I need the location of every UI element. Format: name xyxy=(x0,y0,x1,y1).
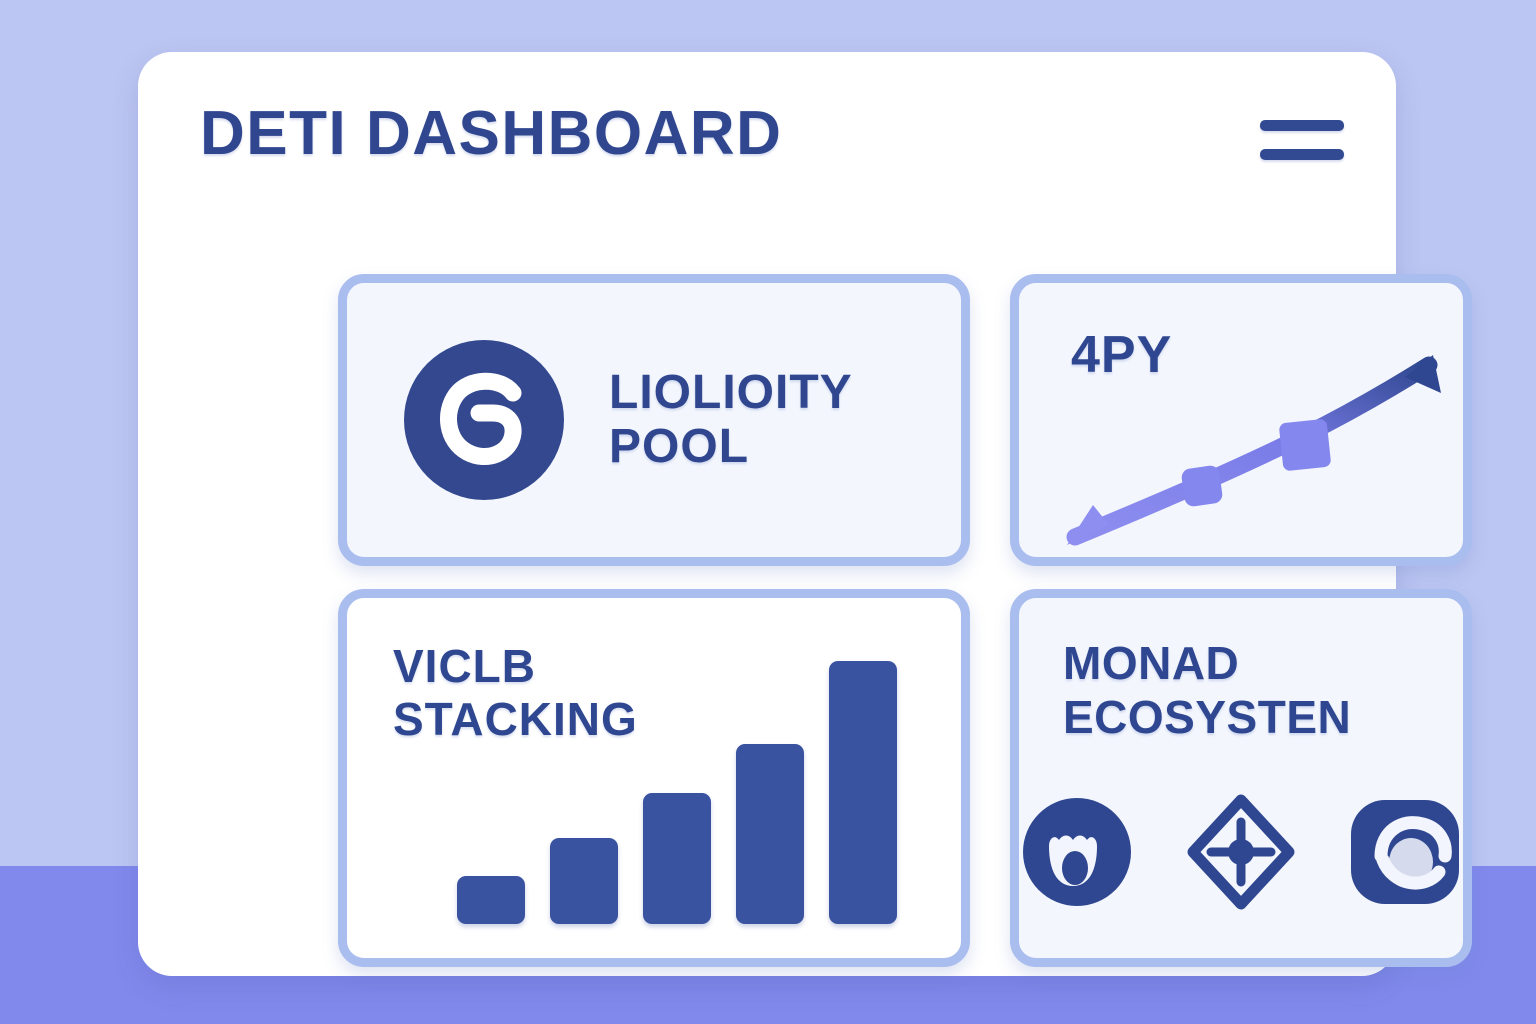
ecosystem-title: MONAD ECOSYSTEN xyxy=(1063,636,1351,745)
bar-chart-icon xyxy=(457,656,927,924)
ecosystem-icon-row xyxy=(1019,794,1463,910)
apy-title: 4PY xyxy=(1071,325,1172,385)
ecosystem-title-line1: MONAD xyxy=(1063,637,1239,689)
dashboard-header: DETI DASHBOARD xyxy=(138,52,1396,212)
hamburger-menu-icon[interactable] xyxy=(1260,114,1346,166)
bar-column xyxy=(643,793,711,924)
bar-column xyxy=(736,744,804,924)
dashboard-panel: DETI DASHBOARD LIOLIOITY POOL xyxy=(138,52,1396,976)
menu-bar-top xyxy=(1260,120,1344,131)
bar-column xyxy=(829,661,897,924)
card-apy[interactable]: 4PY xyxy=(1010,274,1472,566)
screenshot-root: DETI DASHBOARD LIOLIOITY POOL xyxy=(0,0,1536,1024)
liquidity-pool-content: LIOLIOITY POOL xyxy=(347,283,961,557)
bar-column xyxy=(457,876,525,924)
bar-column xyxy=(550,838,618,924)
page-title: DETI DASHBOARD xyxy=(200,98,782,169)
circle-crown-token-icon[interactable] xyxy=(1019,794,1135,910)
diamond-cross-token-icon[interactable] xyxy=(1183,794,1299,910)
liquidity-pool-title-line1: LIOLIOITY xyxy=(609,366,853,419)
rounded-square-swoosh-token-icon[interactable] xyxy=(1347,794,1463,910)
card-liquidity-pool[interactable]: LIOLIOITY POOL xyxy=(338,274,970,566)
liquidity-pool-title: LIOLIOITY POOL xyxy=(609,366,853,474)
g-spiral-token-icon xyxy=(401,337,567,503)
liquidity-pool-title-line2: POOL xyxy=(609,420,853,474)
ecosystem-title-line2: ECOSYSTEN xyxy=(1063,690,1351,744)
card-viclb-staking[interactable]: VICLB STACKING xyxy=(338,589,970,967)
menu-bar-bottom xyxy=(1260,149,1344,160)
card-monad-ecosystem[interactable]: MONAD ECOSYSTEN xyxy=(1010,589,1472,967)
